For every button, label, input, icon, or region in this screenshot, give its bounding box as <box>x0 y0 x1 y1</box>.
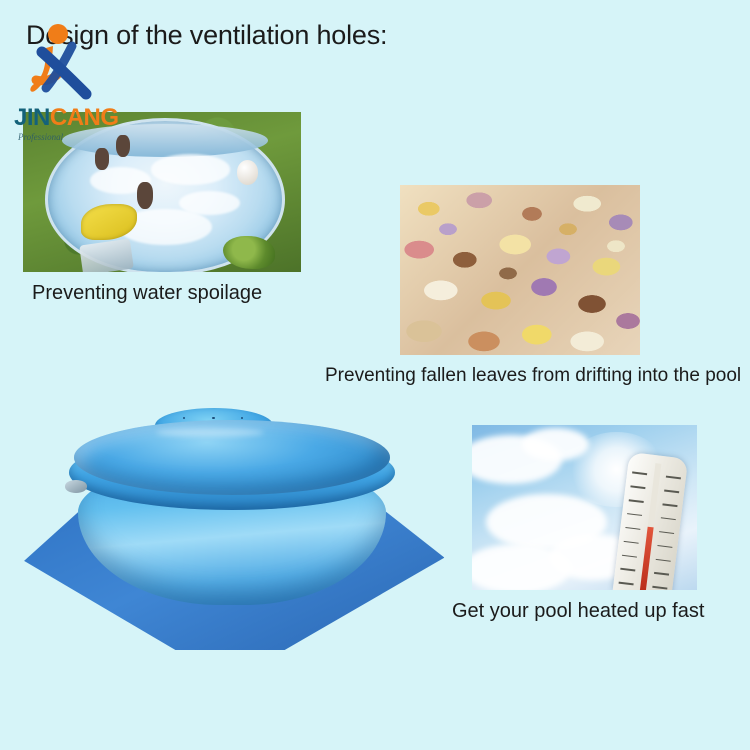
logo-wordmark: JINCANG <box>14 104 119 132</box>
caption-preventing-water-spoilage: Preventing water spoilage <box>32 282 262 305</box>
swimmer-figure <box>137 182 153 209</box>
thermometer-against-sunny-sky-photo <box>472 425 697 590</box>
logo-mark-icon <box>6 22 156 117</box>
pool-cover <box>74 420 390 495</box>
pool-basin <box>45 118 285 272</box>
swimmer-figure <box>95 148 109 169</box>
slide-canvas: Design of the ventilation holes: JINCANG… <box>0 0 750 750</box>
caption-preventing-fallen-leaves: Preventing fallen leaves from drifting i… <box>325 365 741 387</box>
fallen-autumn-leaves-photo <box>400 185 640 355</box>
inflatable-pool-with-cover-and-ground-cloth <box>6 405 458 655</box>
swimmer-figure <box>116 135 130 158</box>
caption-get-pool-heated-up-fast: Get your pool heated up fast <box>452 600 704 623</box>
logo-subtitle: Professional <box>18 132 63 142</box>
water-foam <box>151 154 230 184</box>
pool-ladder <box>79 238 134 272</box>
beach-ball <box>237 160 258 184</box>
leaf-carpet <box>400 185 640 355</box>
cover-highlight <box>156 428 264 437</box>
logo-word-jin: JIN <box>14 104 50 131</box>
water-foam <box>179 191 240 215</box>
thermometer-mercury <box>639 526 653 590</box>
jincang-logo: JINCANG Professional <box>6 22 156 132</box>
above-ground-pool-with-swimmers-photo <box>23 112 301 272</box>
air-valve <box>65 480 88 493</box>
logo-word-cang: CANG <box>50 104 119 131</box>
